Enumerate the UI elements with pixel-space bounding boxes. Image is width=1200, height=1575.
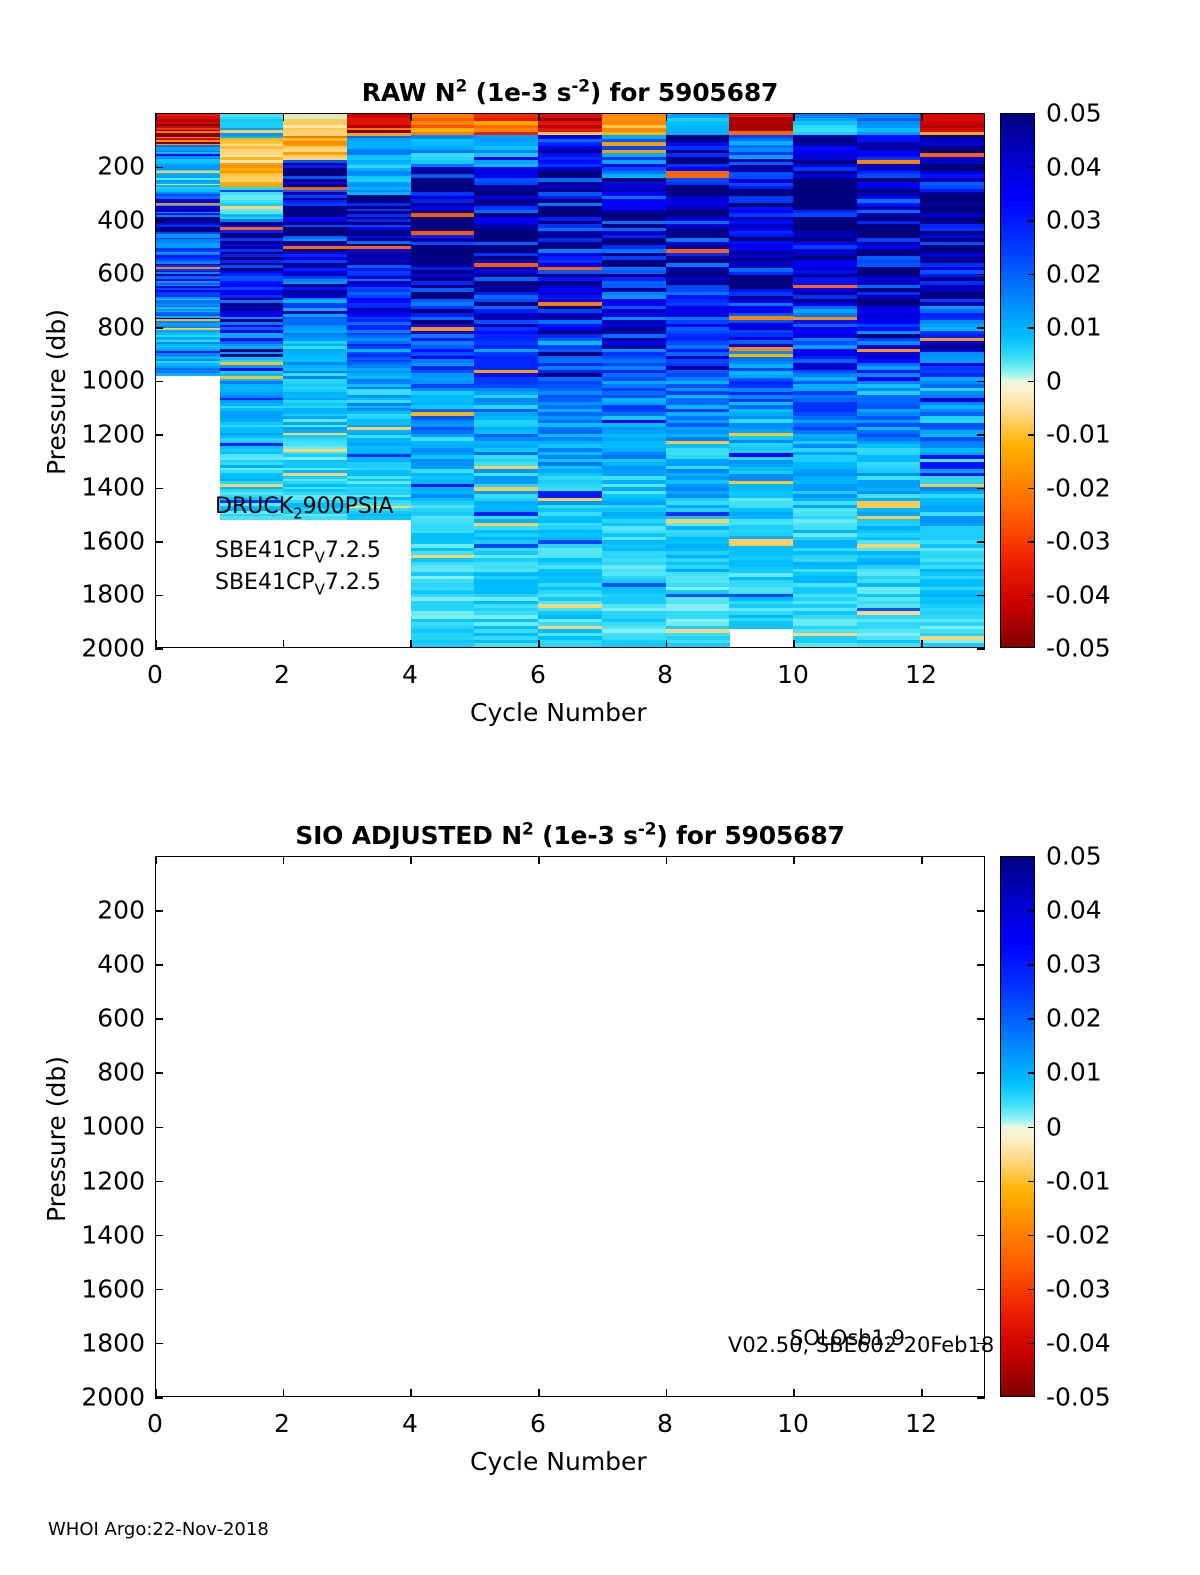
heatmap-stripe xyxy=(411,643,475,647)
y-axis-tick xyxy=(155,1397,163,1399)
x-axis-tick xyxy=(666,856,668,864)
adjusted-ylabel: Pressure (db) xyxy=(42,1056,71,1222)
y-axis-tick xyxy=(977,1127,985,1129)
y-axis-tick xyxy=(977,1235,985,1237)
y-axis-tick xyxy=(977,910,985,912)
raw-colorbar-label: -0.04 xyxy=(1046,580,1111,609)
y-axis-tick xyxy=(977,1289,985,1291)
x-axis-tick xyxy=(793,640,795,648)
y-axis-tick xyxy=(977,1343,985,1345)
adj-title-sup-neg2: -2 xyxy=(638,820,656,840)
raw-ytick-2000: 2000 xyxy=(30,634,145,663)
raw-annotation: DRUCK2900PSIA xyxy=(215,494,393,519)
raw-ytick-1400: 1400 xyxy=(30,473,145,502)
colorbar-tick xyxy=(1028,1235,1035,1237)
y-axis-tick xyxy=(155,541,163,543)
raw-xtick-10: 10 xyxy=(777,660,809,689)
x-axis-tick xyxy=(410,1389,412,1397)
y-axis-tick xyxy=(155,910,163,912)
y-axis-tick xyxy=(155,648,163,650)
adjusted-colorbar-label: -0.04 xyxy=(1046,1328,1111,1357)
raw-title-mid: (1e-3 s xyxy=(467,78,571,107)
y-axis-tick xyxy=(977,274,985,276)
adjusted-colorbar-label: 0.03 xyxy=(1046,950,1102,979)
raw-ytick-200: 200 xyxy=(30,152,145,181)
annotation-text: DRUCK xyxy=(215,494,293,519)
x-axis-tick xyxy=(283,113,285,121)
y-axis-tick xyxy=(155,1181,163,1183)
heatmap-stripe xyxy=(538,643,602,647)
adj-ytick-1800: 1800 xyxy=(30,1329,145,1358)
colorbar-tick xyxy=(1028,327,1035,329)
heatmap-column xyxy=(857,114,921,647)
heatmap-column xyxy=(538,114,602,647)
adj-title-prefix: SIO ADJUSTED N xyxy=(295,821,522,850)
colorbar-tick xyxy=(1028,1072,1035,1074)
raw-xtick-2: 2 xyxy=(274,660,290,689)
x-axis-tick xyxy=(155,640,157,648)
raw-colorbar-label: -0.01 xyxy=(1046,420,1111,449)
colorbar-tick xyxy=(1028,964,1035,966)
y-axis-tick xyxy=(155,1289,163,1291)
raw-title-sup-neg2: -2 xyxy=(571,77,589,97)
x-axis-tick xyxy=(155,1389,157,1397)
x-axis-tick xyxy=(283,1389,285,1397)
colorbar-tick xyxy=(1028,1127,1035,1129)
raw-xtick-4: 4 xyxy=(402,660,418,689)
raw-ytick-600: 600 xyxy=(30,259,145,288)
raw-xtick-0: 0 xyxy=(147,660,163,689)
heatmap-column xyxy=(920,114,984,647)
heatmap-stripe xyxy=(729,625,793,629)
adj-ytick-1400: 1400 xyxy=(30,1221,145,1250)
heatmap-stripe xyxy=(857,643,921,647)
raw-xtick-6: 6 xyxy=(530,660,546,689)
x-axis-tick xyxy=(283,856,285,864)
raw-ytick-1600: 1600 xyxy=(30,527,145,556)
raw-colorbar-label: -0.02 xyxy=(1046,473,1111,502)
x-axis-tick xyxy=(538,856,540,864)
y-axis-tick xyxy=(155,167,163,169)
adjusted-colorbar-label: 0.01 xyxy=(1046,1058,1102,1087)
heatmap-column xyxy=(283,114,347,519)
raw-annotation: SBE41CPV7.2.5 xyxy=(215,570,381,595)
heatmap-column xyxy=(347,114,411,519)
y-axis-tick xyxy=(155,1018,163,1020)
y-axis-tick xyxy=(155,274,163,276)
colorbar-tick xyxy=(1028,167,1035,169)
annotation-text-tail: 7.2.5 xyxy=(325,538,381,563)
raw-ytick-1800: 1800 xyxy=(30,580,145,609)
raw-xtick-8: 8 xyxy=(657,660,673,689)
adj-title-mid: (1e-3 s xyxy=(534,821,638,850)
heatmap-column xyxy=(729,114,793,628)
x-axis-tick xyxy=(410,640,412,648)
annotation-subscript: V xyxy=(315,580,325,598)
x-axis-tick xyxy=(538,113,540,121)
y-axis-tick xyxy=(977,541,985,543)
x-axis-tick xyxy=(793,856,795,864)
colorbar-tick xyxy=(1028,381,1035,383)
annotation-text-tail: 7.2.5 xyxy=(325,570,381,595)
annotation-text: SBE41CP xyxy=(215,538,315,563)
heatmap-column xyxy=(666,114,730,647)
colorbar-tick xyxy=(1028,220,1035,222)
colorbar-tick xyxy=(1028,434,1035,436)
adjusted-colorbar-label: 0 xyxy=(1046,1112,1062,1141)
y-axis-tick xyxy=(155,1343,163,1345)
adjusted-annotation: V02.50, SBE602 20Feb18 xyxy=(728,1333,994,1357)
colorbar-tick xyxy=(1028,1181,1035,1183)
y-axis-tick xyxy=(977,1181,985,1183)
raw-title-sup-2: 2 xyxy=(455,77,467,97)
x-axis-tick xyxy=(538,1389,540,1397)
x-axis-tick xyxy=(410,856,412,864)
colorbar-tick xyxy=(1028,1018,1035,1020)
y-axis-tick xyxy=(155,595,163,597)
adj-ytick-2000: 2000 xyxy=(30,1383,145,1412)
annotation-text-tail: 900PSIA xyxy=(303,494,394,519)
adjusted-colorbar-label: 0.04 xyxy=(1046,896,1102,925)
heatmap-stripe xyxy=(602,643,666,647)
adj-xtick-4: 4 xyxy=(402,1409,418,1438)
x-axis-tick xyxy=(793,1389,795,1397)
colorbar-tick xyxy=(1028,595,1035,597)
heatmap-stripe xyxy=(793,643,857,647)
colorbar-tick xyxy=(1028,1289,1035,1291)
adjusted-colorbar-label: -0.02 xyxy=(1046,1220,1111,1249)
adj-xtick-0: 0 xyxy=(147,1409,163,1438)
x-axis-tick xyxy=(666,113,668,121)
raw-colorbar-label: 0.02 xyxy=(1046,259,1102,288)
y-axis-tick xyxy=(977,488,985,490)
heatmap-stripe xyxy=(666,643,730,647)
heatmap-column xyxy=(220,114,284,519)
heatmap-column xyxy=(793,114,857,647)
adj-ytick-1600: 1600 xyxy=(30,1275,145,1304)
adj-title-sup-2: 2 xyxy=(522,820,534,840)
y-axis-tick xyxy=(155,220,163,222)
y-axis-tick xyxy=(155,488,163,490)
heatmap-column xyxy=(474,114,538,647)
colorbar-tick xyxy=(1028,910,1035,912)
annotation-text: SBE41CP xyxy=(215,570,315,595)
y-axis-tick xyxy=(155,1235,163,1237)
adj-xtick-2: 2 xyxy=(274,1409,290,1438)
adj-xtick-8: 8 xyxy=(657,1409,673,1438)
x-axis-tick xyxy=(921,1389,923,1397)
adjusted-axes xyxy=(155,856,985,1397)
x-axis-tick xyxy=(155,856,157,864)
x-axis-tick xyxy=(921,113,923,121)
x-axis-tick xyxy=(283,640,285,648)
raw-colorbar-label: 0 xyxy=(1046,366,1062,395)
raw-colorbar-label: -0.03 xyxy=(1046,527,1111,556)
x-axis-tick xyxy=(666,640,668,648)
heatmap-stripe xyxy=(474,643,538,647)
heatmap-stripe xyxy=(920,643,984,647)
raw-plot-title: RAW N2 (1e-3 s-2) for 5905687 xyxy=(155,78,985,107)
adjusted-xlabel: Cycle Number xyxy=(470,1447,647,1476)
adjusted-colorbar-label: -0.01 xyxy=(1046,1166,1111,1195)
adj-xtick-12: 12 xyxy=(905,1409,937,1438)
y-axis-tick xyxy=(977,648,985,650)
y-axis-tick xyxy=(977,595,985,597)
adjusted-colorbar-label: -0.03 xyxy=(1046,1274,1111,1303)
raw-xlabel: Cycle Number xyxy=(470,698,647,727)
raw-ytick-400: 400 xyxy=(30,206,145,235)
x-axis-tick xyxy=(155,113,157,121)
colorbar-tick xyxy=(1028,488,1035,490)
y-axis-tick xyxy=(155,964,163,966)
raw-ylabel: Pressure (db) xyxy=(42,309,71,475)
heatmap-column xyxy=(411,114,475,647)
raw-colorbar-label: -0.05 xyxy=(1046,634,1111,663)
raw-colorbar-label: 0.05 xyxy=(1046,99,1102,128)
y-axis-tick xyxy=(977,1397,985,1399)
y-axis-tick xyxy=(155,434,163,436)
colorbar-tick xyxy=(1028,541,1035,543)
y-axis-tick xyxy=(155,1127,163,1129)
adjusted-colorbar-label: 0.05 xyxy=(1046,842,1102,871)
y-axis-tick xyxy=(977,220,985,222)
y-axis-tick xyxy=(977,327,985,329)
y-axis-tick xyxy=(977,434,985,436)
figure-footer: WHOI Argo:22-Nov-2018 xyxy=(48,1519,269,1540)
y-axis-tick xyxy=(155,327,163,329)
raw-colorbar-label: 0.01 xyxy=(1046,313,1102,342)
y-axis-tick xyxy=(977,1018,985,1020)
raw-title-prefix: RAW N xyxy=(362,78,456,107)
raw-xtick-12: 12 xyxy=(905,660,937,689)
adj-xtick-6: 6 xyxy=(530,1409,546,1438)
adjusted-colorbar-label: -0.05 xyxy=(1046,1383,1111,1412)
raw-annotation: SBE41CPV7.2.5 xyxy=(215,538,381,563)
adjusted-colorbar-label: 0.02 xyxy=(1046,1004,1102,1033)
heatmap-column xyxy=(602,114,666,647)
heatmap-stripe xyxy=(156,373,220,375)
raw-axes xyxy=(155,113,985,648)
x-axis-tick xyxy=(666,1389,668,1397)
adj-title-suffix: ) for 5905687 xyxy=(656,821,844,850)
x-axis-tick xyxy=(538,640,540,648)
y-axis-tick xyxy=(155,381,163,383)
y-axis-tick xyxy=(977,964,985,966)
adj-ytick-200: 200 xyxy=(30,896,145,925)
y-axis-tick xyxy=(977,1072,985,1074)
x-axis-tick xyxy=(921,856,923,864)
adj-ytick-600: 600 xyxy=(30,1004,145,1033)
annotation-subscript: V xyxy=(315,548,325,566)
raw-title-suffix: ) for 5905687 xyxy=(590,78,778,107)
heatmap-column xyxy=(156,114,220,375)
y-axis-tick xyxy=(977,167,985,169)
x-axis-tick xyxy=(793,113,795,121)
raw-colorbar-label: 0.03 xyxy=(1046,206,1102,235)
raw-colorbar-label: 0.04 xyxy=(1046,152,1102,181)
adj-ytick-400: 400 xyxy=(30,950,145,979)
adj-xtick-10: 10 xyxy=(777,1409,809,1438)
colorbar-tick xyxy=(1028,274,1035,276)
y-axis-tick xyxy=(977,381,985,383)
x-axis-tick xyxy=(921,640,923,648)
colorbar-tick xyxy=(1028,1343,1035,1345)
x-axis-tick xyxy=(410,113,412,121)
y-axis-tick xyxy=(155,1072,163,1074)
adjusted-plot-title: SIO ADJUSTED N2 (1e-3 s-2) for 5905687 xyxy=(155,821,985,850)
annotation-subscript: 2 xyxy=(293,504,303,522)
